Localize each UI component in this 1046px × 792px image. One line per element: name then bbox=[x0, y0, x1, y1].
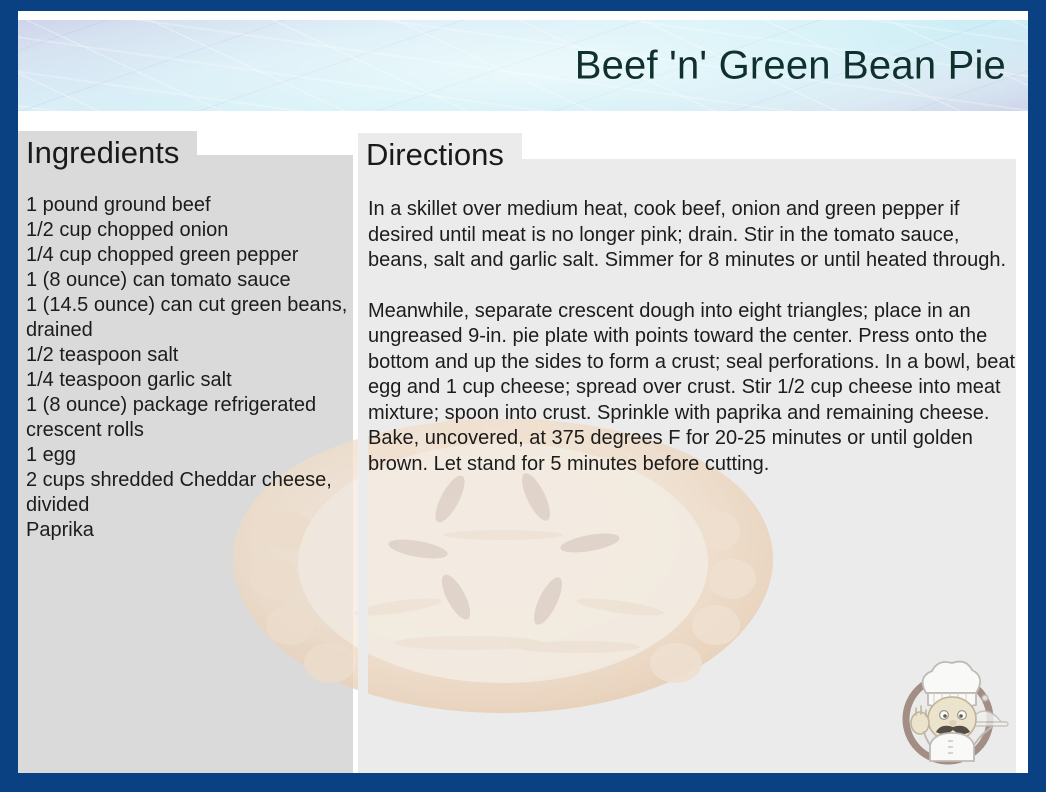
ingredients-list: 1 pound ground beef 1/2 cup chopped onio… bbox=[26, 193, 366, 543]
list-item: 1 (8 ounce) package refrigerated crescen… bbox=[26, 393, 366, 443]
list-item: 2 cups shredded Cheddar cheese, divided bbox=[26, 468, 366, 518]
recipe-card: Beef 'n' Green Bean Pie bbox=[0, 0, 1046, 792]
directions-steps: In a skillet over medium heat, cook beef… bbox=[368, 197, 1023, 477]
list-item: Paprika bbox=[26, 518, 366, 543]
recipe-page: Beef 'n' Green Bean Pie bbox=[18, 11, 1028, 773]
ingredients-heading: Ingredients bbox=[26, 135, 179, 171]
list-item: 1/2 cup chopped onion bbox=[26, 218, 366, 243]
direction-step: Meanwhile, separate crescent dough into … bbox=[368, 299, 1023, 478]
chef-logo-icon bbox=[890, 653, 1010, 773]
list-item: 1/2 teaspoon salt bbox=[26, 343, 366, 368]
list-item: 1/4 cup chopped green pepper bbox=[26, 243, 366, 268]
list-item: 1/4 teaspoon garlic salt bbox=[26, 368, 366, 393]
list-item: 1 pound ground beef bbox=[26, 193, 366, 218]
list-item: 1 (14.5 ounce) can cut green beans, drai… bbox=[26, 293, 366, 343]
direction-step: In a skillet over medium heat, cook beef… bbox=[368, 197, 1023, 274]
list-item: 1 egg bbox=[26, 443, 366, 468]
page-title: Beef 'n' Green Bean Pie bbox=[575, 43, 1006, 88]
header-banner: Beef 'n' Green Bean Pie bbox=[18, 20, 1028, 111]
directions-heading: Directions bbox=[366, 137, 504, 173]
list-item: 1 (8 ounce) can tomato sauce bbox=[26, 268, 366, 293]
